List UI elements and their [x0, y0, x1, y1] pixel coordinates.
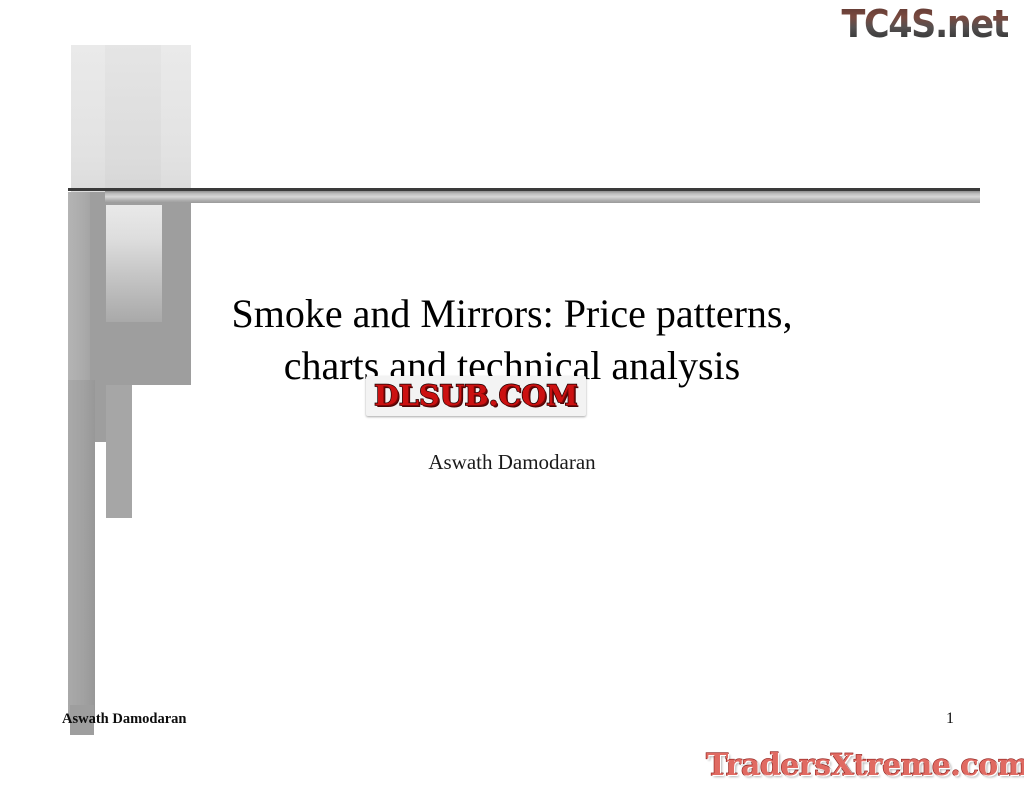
page-number: 1 — [946, 710, 954, 728]
watermark-tradersxtreme: TradersXtreme.com — [706, 748, 1024, 783]
presentation-slide: Smoke and Mirrors: Price patterns, chart… — [0, 0, 1024, 791]
decor-left-vertical-bar — [68, 380, 95, 718]
watermark-tc4s: TC4S.net — [841, 2, 1008, 46]
watermark-dlsub-text: DLSUB.COM — [374, 379, 578, 412]
footer-author: Aswath Damodaran — [62, 711, 186, 728]
decor-horizontal-rule-bar — [105, 191, 980, 203]
watermark-dlsub-badge: DLSUB.COM — [366, 376, 586, 416]
slide-subtitle-author: Aswath Damodaran — [112, 450, 912, 475]
